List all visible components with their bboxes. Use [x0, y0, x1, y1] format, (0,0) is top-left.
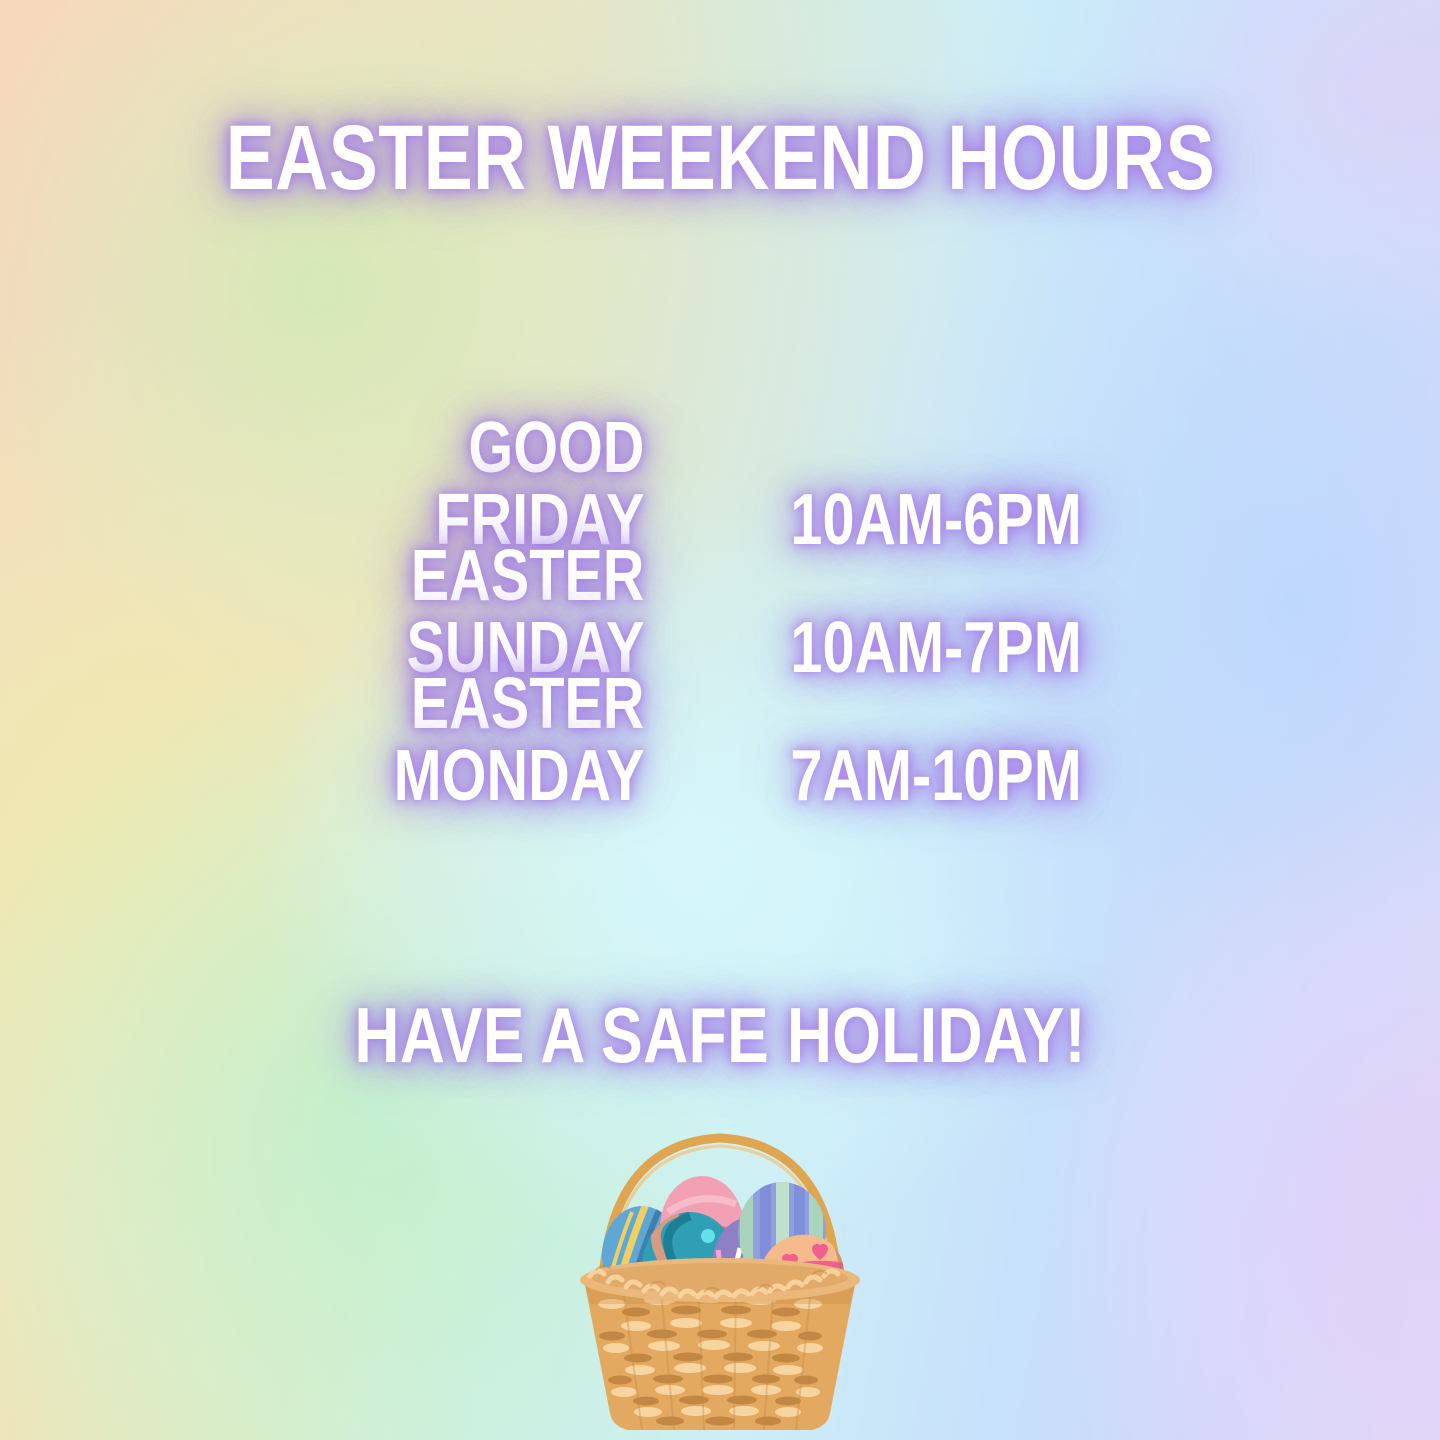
- schedule-day-label: GOOD FRIDAY: [270, 412, 720, 556]
- schedule-hours-text: 10AM-7PM: [790, 612, 1081, 684]
- easter-basket-icon: [550, 1108, 890, 1440]
- schedule-day-text: EASTER SUNDAY: [312, 540, 645, 684]
- schedule-hours-text: 7AM-10PM: [790, 740, 1081, 812]
- schedule-row: EASTER SUNDAY 10AM-7PM: [0, 540, 1440, 668]
- schedule-hours-text: 10AM-6PM: [790, 484, 1081, 556]
- schedule-hours-value: 7AM-10PM: [720, 740, 1170, 812]
- basket-bowl: [584, 1280, 856, 1430]
- schedule-day-text: GOOD FRIDAY: [312, 412, 645, 556]
- closing-message: HAVE A SAFE HOLIDAY!: [0, 996, 1440, 1074]
- schedule-day-label: EASTER SUNDAY: [270, 540, 720, 684]
- page-title: EASTER WEEKEND HOURS: [0, 112, 1440, 204]
- easter-hours-poster: EASTER WEEKEND HOURS GOOD FRIDAY 10AM-6P…: [0, 0, 1440, 1440]
- schedule-day-text: EASTER MONDAY: [312, 668, 645, 812]
- page-title-text: EASTER WEEKEND HOURS: [225, 112, 1214, 204]
- schedule-row: GOOD FRIDAY 10AM-6PM: [0, 412, 1440, 540]
- schedule-day-label: EASTER MONDAY: [270, 668, 720, 812]
- basket-rim: [580, 1258, 860, 1302]
- closing-message-text: HAVE A SAFE HOLIDAY!: [354, 996, 1085, 1074]
- hours-schedule-list: GOOD FRIDAY 10AM-6PM EASTER SUNDAY 10AM-…: [0, 412, 1440, 796]
- schedule-hours-value: 10AM-7PM: [720, 612, 1170, 684]
- schedule-hours-value: 10AM-6PM: [720, 484, 1170, 556]
- schedule-row: EASTER MONDAY 7AM-10PM: [0, 668, 1440, 796]
